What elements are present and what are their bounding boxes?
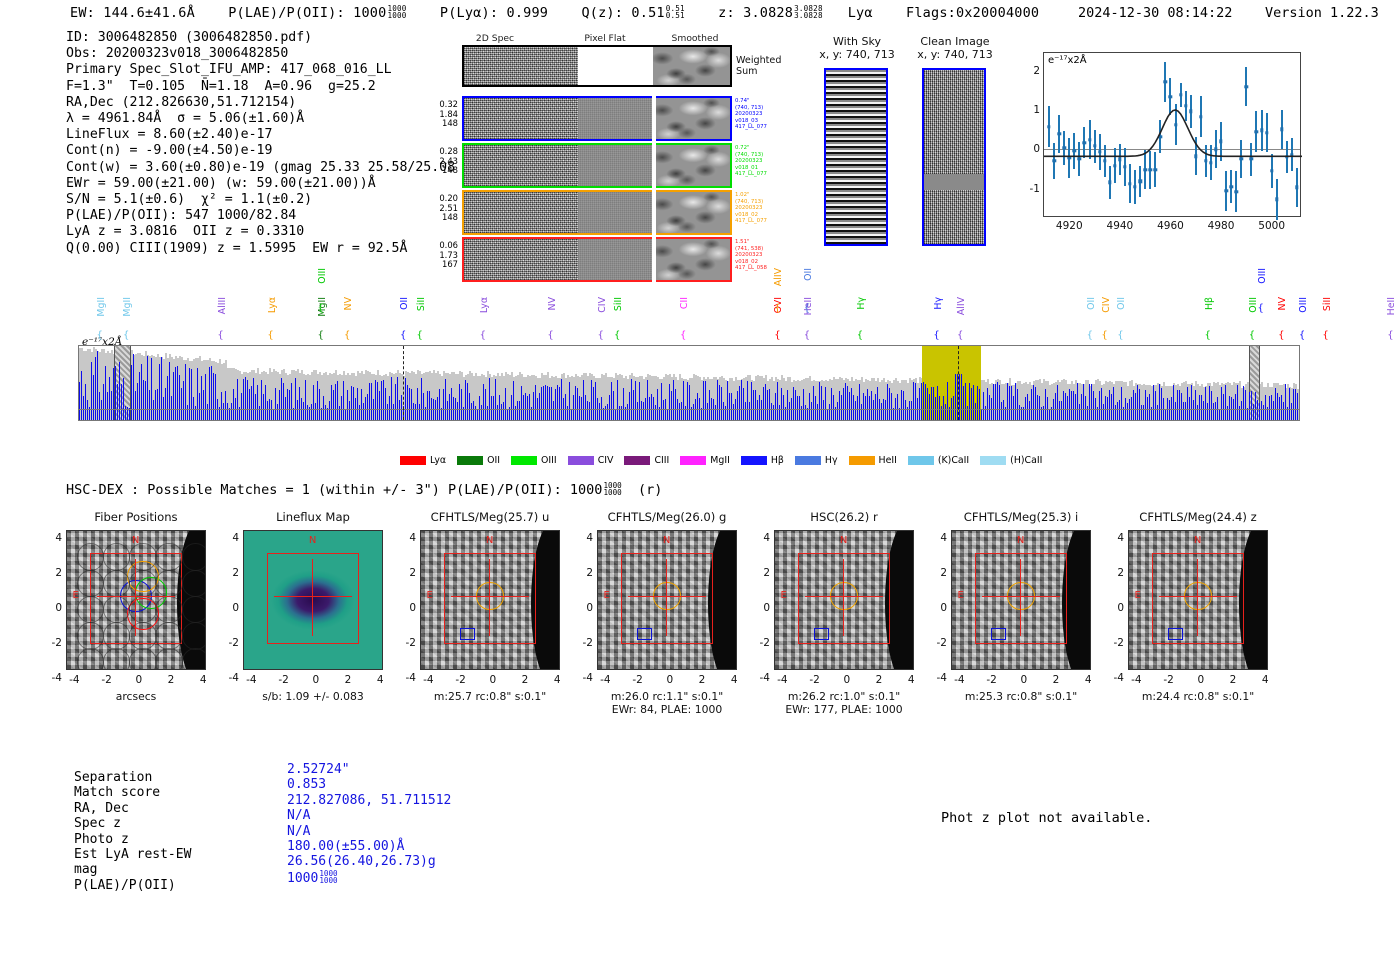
east-label: E <box>427 590 433 601</box>
legend-label: MgII <box>710 455 730 466</box>
thumbnail-title-1: Clean Imagex, y: 740, 713 <box>900 35 1010 61</box>
cutout-ytick: -4 <box>760 672 770 684</box>
spectrum-line-label: CIV <box>1101 297 1112 313</box>
cutout-caption: m:26.2 rc:1.0" s:0.1"EWr: 177, PLAE: 100… <box>754 690 934 716</box>
match-value: 100010001000 <box>287 870 338 886</box>
spec2d-col-header-1: Pixel Flat <box>560 33 650 44</box>
cutout-ytick: -2 <box>52 637 62 649</box>
info-line-1: Obs: 20200323v018_3006482850 <box>66 46 479 62</box>
cutout-image: NE <box>597 530 737 670</box>
fiber-grid-circle <box>155 543 183 571</box>
spectrum-line-label: OII <box>1086 297 1097 310</box>
info-line-13: Q(0.00) CIII(1909) z = 1.5995 EW r = 92.… <box>66 241 479 257</box>
fiber-grid-circle <box>129 622 157 650</box>
line-profile-plot: e⁻¹⁷x2Å 210-149204940496049805000 <box>1043 52 1301 217</box>
cutout-ytick: 4 <box>232 532 239 544</box>
spectrum-line-brace: { <box>318 330 324 341</box>
east-label: E <box>73 590 79 601</box>
spectrum-line-label: CIV <box>597 297 608 313</box>
cutout-panel-3[interactable]: CFHTLS/Meg(26.0) gNE420-2-4-4-2024m:26.0… <box>597 530 737 670</box>
cutout-xtick: 2 <box>699 674 706 686</box>
legend-swatch <box>795 456 821 465</box>
legend-label: Lyα <box>430 455 446 466</box>
cutout-ytick: 2 <box>586 567 593 579</box>
cutout-xtick: 0 <box>843 674 850 686</box>
info-line-4: RA,Dec (212.826630,51.712154) <box>66 95 479 111</box>
legend-label: OIII <box>541 455 557 466</box>
legend-swatch <box>680 456 706 465</box>
hsc-dex-text: HSC-DEX : Possible Matches = 1 (within +… <box>66 482 602 498</box>
cutout-ytick: 4 <box>586 532 593 544</box>
cutout-image: NE <box>420 530 560 670</box>
info-line-11: P(LAE)/P(OII): 547 1000/82.84 <box>66 208 479 224</box>
spectrum-line-label: MgII <box>122 297 133 317</box>
line-profile-xtick: 4960 <box>1157 220 1184 232</box>
spectrum-line-brace: { <box>480 330 486 341</box>
cutout-xtick: -4 <box>777 674 787 686</box>
cutout-ytick: 0 <box>409 602 416 614</box>
full-spectrum-plot: 2035003600370038003900400041004200430044… <box>78 345 1300 421</box>
info-line-5: λ = 4961.84Å σ = 5.06(±1.60)Å <box>66 111 479 127</box>
cutout-xtick: -2 <box>632 674 642 686</box>
match-value: 2.52724" <box>287 762 350 777</box>
spectrum-line-label: HeII <box>1386 297 1397 315</box>
cutout-ytick: 4 <box>940 532 947 544</box>
match-plae-frac: 10001000 <box>319 870 337 884</box>
fiber-grid-circle <box>155 570 183 598</box>
match-key: Photo z <box>74 832 129 847</box>
match-key: RA, Dec <box>74 801 129 816</box>
spectrum-line-brace: { <box>1117 330 1123 341</box>
match-value: 0.853 <box>287 777 326 792</box>
info-line-9: EWr = 59.00(±21.00) (w: 59.00(±21.00))Å <box>66 176 479 192</box>
cutout-panel-5[interactable]: CFHTLS/Meg(25.3) iNE420-2-4-4-2024m:25.3… <box>951 530 1091 670</box>
spectrum-line-marker <box>958 346 959 420</box>
hsc-dex-suffix: (r) <box>638 482 662 498</box>
cutout-ytick: 2 <box>940 567 947 579</box>
cutout-xtick: -4 <box>600 674 610 686</box>
cutout-caption-line1: m:26.2 rc:1.0" s:0.1" <box>754 690 934 703</box>
cutout-xtick: -2 <box>809 674 819 686</box>
hsc-dex-frac: 10001000 <box>603 482 621 496</box>
photoz-note: Phot z plot not available. <box>941 810 1152 826</box>
spectrum-line-brace: { <box>857 330 863 341</box>
spec2d-row-meta: 0.74"(740, 713)20200323v018_03417_LL_077 <box>735 98 767 131</box>
spectrum-line-brace: { <box>400 330 406 341</box>
spectrum-line-label: AlIV <box>956 297 967 315</box>
cutout-xtick: 4 <box>1262 674 1269 686</box>
fiber-grid-circle <box>182 543 206 571</box>
line-profile-xtick: 5000 <box>1258 220 1285 232</box>
spectrum-line-label: AlIII <box>217 297 228 314</box>
with-sky-image <box>824 68 888 246</box>
info-line-8: Cont(w) = 3.60(±0.80)e-19 (gmag 25.33 25… <box>66 160 479 176</box>
spectrum-line-brace: { <box>680 330 686 341</box>
info-line-0: ID: 3006482850 (3006482850.pdf) <box>66 30 479 46</box>
east-label: E <box>781 590 787 601</box>
cutout-ytick: -2 <box>583 637 593 649</box>
thumbnail-title-0: With Skyx, y: 740, 713 <box>802 35 912 61</box>
cutout-xtick: -4 <box>246 674 256 686</box>
crosshair-vertical <box>843 559 844 636</box>
cutout-ytick: 4 <box>409 532 416 544</box>
cutout-xtick: -2 <box>278 674 288 686</box>
spectrum-line-brace: { <box>123 330 129 341</box>
cutout-ytick: 2 <box>232 567 239 579</box>
north-label: N <box>840 535 847 546</box>
spectrum-line-brace: { <box>1101 330 1107 341</box>
cutout-caption-line1: s/b: 1.09 +/- 0.083 <box>223 690 403 703</box>
fiber-grid-circle <box>182 648 206 670</box>
header-redshift: z: 3.0828 <box>718 5 793 21</box>
spectrum-line-label: SiII <box>613 297 624 311</box>
cutout-ytick: 4 <box>1117 532 1124 544</box>
crosshair-vertical <box>489 559 490 636</box>
cutout-caption-line1: m:25.3 rc:0.8" s:0.1" <box>931 690 1111 703</box>
spectrum-line-brace: { <box>96 330 102 341</box>
cutout-ytick: 0 <box>763 602 770 614</box>
cutout-ytick: 2 <box>763 567 770 579</box>
spectrum-line-brace: { <box>417 330 423 341</box>
header-qz-frac: 0.510.51 <box>666 5 685 19</box>
legend-swatch <box>849 456 875 465</box>
cutout-xtick: 0 <box>489 674 496 686</box>
cutout-xtick: -2 <box>455 674 465 686</box>
spectrum-line-label: OIII <box>1298 297 1309 313</box>
spec2d-weighted-sum-strip <box>462 45 732 87</box>
cutout-ytick: 4 <box>55 532 62 544</box>
header-version: Version 1.22.3 <box>1265 5 1379 21</box>
legend-item: Hβ <box>741 455 784 466</box>
fiber-grid-circle <box>129 648 157 670</box>
cutout-caption: s/b: 1.09 +/- 0.083 <box>223 690 403 703</box>
catalog-match-box <box>814 628 829 640</box>
hsc-dex-header: HSC-DEX : Possible Matches = 1 (within +… <box>66 482 662 498</box>
legend-label: (H)CaII <box>1010 455 1042 466</box>
crosshair-vertical <box>135 559 136 636</box>
match-key: Match score <box>74 785 160 800</box>
crosshair-vertical <box>1197 559 1198 636</box>
fiber-grid-circle <box>77 543 105 571</box>
spectrum-line-brace: { <box>547 330 553 341</box>
spectrum-line-label: NV <box>547 297 558 310</box>
legend-swatch <box>511 456 537 465</box>
legend-item: OII <box>457 455 500 466</box>
crosshair-vertical <box>1020 559 1021 636</box>
catalog-match-box <box>991 628 1006 640</box>
spectrum-line-label: Hβ <box>1204 297 1215 310</box>
spectrum-line-label: AlIV <box>773 268 784 286</box>
match-key: Separation <box>74 770 152 785</box>
legend-item: MgII <box>680 455 730 466</box>
catalog-match-box <box>637 628 652 640</box>
cutout-caption-line2: EWr: 84, PLAE: 1000 <box>577 703 757 716</box>
legend-swatch <box>457 456 483 465</box>
cutout-ytick: -4 <box>229 672 239 684</box>
cutout-caption-line2: EWr: 177, PLAE: 1000 <box>754 703 934 716</box>
legend-item: Hγ <box>795 455 838 466</box>
legend-swatch <box>980 456 1006 465</box>
cutout-xtick: 4 <box>731 674 738 686</box>
spec2d-fiber-row <box>462 190 732 235</box>
header-line-name: Lyα <box>848 5 873 21</box>
cutout-xtick: 4 <box>200 674 207 686</box>
match-value-text: 1000 <box>287 871 318 886</box>
cutout-xtick: 4 <box>554 674 561 686</box>
spectrum-line-brace: { <box>933 330 939 341</box>
cutout-xtick: -2 <box>986 674 996 686</box>
cutout-xtick: 2 <box>522 674 529 686</box>
fiber-grid-circle <box>103 648 131 670</box>
cutout-caption-line1: arcsecs <box>46 690 226 703</box>
match-value: 26.56(26.40,26.73)g <box>287 854 436 869</box>
spec2d-row-meta: 1.51"(741, 538)20200323v018_02417_LL_058 <box>735 239 767 272</box>
legend-label: Hβ <box>771 455 784 466</box>
cutout-ytick: 0 <box>1117 602 1124 614</box>
fiber-grid-circle <box>129 596 157 624</box>
cutout-xtick: 0 <box>666 674 673 686</box>
cutout-title: Lineflux Map <box>243 510 383 524</box>
cutout-ytick: 4 <box>763 532 770 544</box>
cutout-ytick: 0 <box>55 602 62 614</box>
legend-item: (H)CaII <box>980 455 1042 466</box>
fiber-grid-circle <box>182 622 206 650</box>
cutout-panel-1[interactable]: Lineflux MapN420-2-4-4-2024s/b: 1.09 +/-… <box>243 530 383 670</box>
cutout-panel-0[interactable]: Fiber PositionsNE420-2-4-4-2024arcsecs <box>66 530 206 670</box>
cutout-caption-line1: m:24.4 rc:0.8" s:0.1" <box>1108 690 1288 703</box>
fiber-grid-circle <box>77 648 105 670</box>
spectrum-line-label: Hγ <box>933 297 944 310</box>
spectrum-line-label: SiII <box>1322 297 1333 311</box>
cutout-xtick: 2 <box>168 674 175 686</box>
cutout-title: CFHTLS/Meg(25.7) u <box>420 510 560 524</box>
header-z-frac: 3.08283.0828 <box>794 5 823 19</box>
cutout-caption: m:25.3 rc:0.8" s:0.1" <box>931 690 1111 703</box>
cutout-panel-2[interactable]: CFHTLS/Meg(25.7) uNE420-2-4-4-2024m:25.7… <box>420 530 560 670</box>
header-plya: P(Lyα): 0.999 <box>440 5 548 21</box>
spec2d-col-header-0: 2D Spec <box>450 33 540 44</box>
spectrum-line-label: Hγ <box>856 297 867 310</box>
spec2d-fiber-row <box>462 96 732 141</box>
line-profile-ytick: 2 <box>1033 65 1040 77</box>
cutout-xtick: 0 <box>312 674 319 686</box>
legend-label: Hγ <box>825 455 838 466</box>
spec2d-row-meta: 1.02"(740, 713)20200323v018_02417_LL_077 <box>735 192 767 225</box>
legend-swatch <box>568 456 594 465</box>
spec2d-row-stats: 0.282.43148 <box>430 147 458 176</box>
east-label: E <box>604 590 610 601</box>
spectrum-line-brace: { <box>804 330 810 341</box>
spectrum-line-label: SiII <box>416 297 427 311</box>
match-value: N/A <box>287 808 310 823</box>
spectrum-line-label: Lyα <box>479 297 490 313</box>
spectrum-line-brace: { <box>774 303 780 314</box>
spectrum-legend: LyαOIIOIIICIVCIIIMgIIHβHγHeII(K)CaII(H)C… <box>400 455 1042 466</box>
cutout-title: CFHTLS/Meg(24.4) z <box>1128 510 1268 524</box>
spectrum-line-label: CII <box>679 297 690 309</box>
header-plae-frac: 10001000 <box>387 5 406 19</box>
north-label: N <box>1194 535 1201 546</box>
cutout-ytick: 0 <box>586 602 593 614</box>
spectrum-line-label: NV <box>343 297 354 310</box>
cutout-xtick: 4 <box>1085 674 1092 686</box>
spectrum-flux-line <box>1297 393 1298 420</box>
legend-swatch <box>741 456 767 465</box>
catalog-match-box <box>1168 628 1183 640</box>
info-line-3: F=1.3" T=0.105 N̄=1.18 A=0.96 g=25.2 <box>66 79 479 95</box>
spectrum-line-brace: { <box>957 330 963 341</box>
cutout-ytick: 2 <box>409 567 416 579</box>
cutout-ytick: 0 <box>940 602 947 614</box>
cutout-ytick: -2 <box>406 637 416 649</box>
cutout-xtick: 0 <box>1197 674 1204 686</box>
cutout-title: HSC(26.2) r <box>774 510 914 524</box>
cutout-title: CFHTLS/Meg(26.0) g <box>597 510 737 524</box>
spec2d-fiber-row <box>462 143 732 188</box>
spectrum-zero-line <box>79 409 1299 410</box>
cutout-caption-line1: m:25.7 rc:0.8" s:0.1" <box>400 690 580 703</box>
spectrum-line-brace: { <box>267 330 273 341</box>
cutout-ytick: 2 <box>55 567 62 579</box>
crosshair-vertical <box>666 559 667 636</box>
cutout-xtick: 2 <box>1230 674 1237 686</box>
spec2d-col-header-2: Smoothed <box>650 33 740 44</box>
north-label: N <box>1017 535 1024 546</box>
north-label: N <box>486 535 493 546</box>
cutout-xtick: 2 <box>1053 674 1060 686</box>
cutout-image: NE <box>66 530 206 670</box>
info-line-12: LyA z = 3.0816 OII z = 0.3310 <box>66 224 479 240</box>
header-right: 2024-12-30 08:14:22 Version 1.22.3 <box>1078 5 1379 21</box>
cutout-ytick: -2 <box>229 637 239 649</box>
cutout-caption: m:24.4 rc:0.8" s:0.1" <box>1108 690 1288 703</box>
cutout-panel-6[interactable]: CFHTLS/Meg(24.4) zNE420-2-4-4-2024m:24.4… <box>1128 530 1268 670</box>
line-profile-ytick: 0 <box>1033 143 1040 155</box>
cutout-xtick: 2 <box>345 674 352 686</box>
legend-label: CIV <box>598 455 614 466</box>
cutout-ytick: 0 <box>232 602 239 614</box>
spectrum-line-brace: { <box>1387 330 1393 341</box>
spec2d-row-stats: 0.061.73167 <box>430 241 458 270</box>
cutout-ytick: -2 <box>760 637 770 649</box>
fiber-grid-circle <box>155 622 183 650</box>
cutout-title: CFHTLS/Meg(25.3) i <box>951 510 1091 524</box>
cutout-caption-line1: m:26.0 rc:1.1" s:0.1" <box>577 690 757 703</box>
fiber-grid-circle <box>182 570 206 598</box>
cutout-xtick: -2 <box>101 674 111 686</box>
spec2d-row-stats: 0.321.84148 <box>430 100 458 129</box>
spectrum-line-brace: { <box>1205 330 1211 341</box>
legend-label: OII <box>487 455 500 466</box>
cutout-ytick: -4 <box>937 672 947 684</box>
legend-swatch <box>400 456 426 465</box>
line-profile-xtick: 4920 <box>1056 220 1083 232</box>
fiber-grid-circle <box>155 596 183 624</box>
cutout-xtick: 2 <box>876 674 883 686</box>
cutout-caption: m:25.7 rc:0.8" s:0.1" <box>400 690 580 703</box>
line-profile-xtick: 4940 <box>1107 220 1134 232</box>
legend-item: (K)CaII <box>908 455 969 466</box>
thumb-title: Clean Image <box>920 35 989 48</box>
cutout-ytick: -4 <box>1114 672 1124 684</box>
thumb-subtitle: x, y: 740, 713 <box>819 48 894 61</box>
line-profile-xtick: 4980 <box>1208 220 1235 232</box>
legend-swatch <box>624 456 650 465</box>
cutout-xtick: -4 <box>1131 674 1141 686</box>
cutout-caption: arcsecs <box>46 690 226 703</box>
header-ew: EW: 144.6±41.6Å <box>70 5 195 21</box>
fiber-grid-circle <box>129 543 157 571</box>
spec2d-fiber-row <box>462 237 732 282</box>
cutout-ytick: -4 <box>406 672 416 684</box>
cutout-xtick: 0 <box>135 674 142 686</box>
legend-swatch <box>908 456 934 465</box>
spectrum-line-brace: { <box>217 330 223 341</box>
header-flags: Flags:0x20004000 <box>906 5 1039 21</box>
match-key: mag <box>74 862 97 877</box>
spectrum-line-brace: { <box>774 330 780 341</box>
info-line-7: Cont(n) = -9.00(±4.50)e-19 <box>66 143 479 159</box>
cutout-panel-4[interactable]: HSC(26.2) rNE420-2-4-4-2024m:26.2 rc:1.0… <box>774 530 914 670</box>
north-label: N <box>132 535 139 546</box>
east-label: E <box>958 590 964 601</box>
clean-image <box>922 68 986 246</box>
cutout-ytick: -2 <box>937 637 947 649</box>
spectrum-line-label: OIII <box>1257 268 1268 284</box>
match-value: 212.827086, 51.711512 <box>287 793 451 808</box>
spectrum-line-brace: { <box>1299 330 1305 341</box>
line-profile-ytick: -1 <box>1030 183 1040 195</box>
spectrum-line-brace: { <box>344 330 350 341</box>
crosshair-vertical <box>312 559 313 636</box>
info-line-10: S/N = 5.1(±0.6) χ² = 1.1(±0.2) <box>66 192 479 208</box>
line-profile-ytick: 1 <box>1033 104 1040 116</box>
cutout-image: N <box>243 530 383 670</box>
legend-label: (K)CaII <box>938 455 969 466</box>
spectrum-line-label: OII <box>1116 297 1127 310</box>
cutout-image: NE <box>1128 530 1268 670</box>
info-line-2: Primary Spec_Slot_IFU_AMP: 417_068_016_L… <box>66 62 479 78</box>
spectrum-line-brace: { <box>1249 330 1255 341</box>
cutout-image: NE <box>774 530 914 670</box>
cutout-caption: m:26.0 rc:1.1" s:0.1"EWr: 84, PLAE: 1000 <box>577 690 757 716</box>
cutout-ytick: 2 <box>1117 567 1124 579</box>
spectrum-line-brace: { <box>1258 303 1264 314</box>
spectrum-line-marker <box>403 346 404 420</box>
fiber-grid-circle <box>155 648 183 670</box>
spectrum-line-label: NV <box>1277 297 1288 310</box>
spec2d-row-meta: 0.72"(740, 713)20200323v018_01417_LL_077 <box>735 145 767 178</box>
match-value: 180.00(±55.00)Å <box>287 839 404 854</box>
legend-item: Lyα <box>400 455 446 466</box>
info-line-6: LineFlux = 8.60(±2.40)e-17 <box>66 127 479 143</box>
legend-label: HeII <box>879 455 897 466</box>
match-key: Est LyA rest-EW <box>74 847 191 862</box>
legend-item: HeII <box>849 455 897 466</box>
legend-item: CIV <box>568 455 614 466</box>
cutout-ytick: -4 <box>52 672 62 684</box>
spectrum-line-label: MgII <box>96 297 107 317</box>
header-datetime: 2024-12-30 08:14:22 <box>1078 5 1232 21</box>
spectrum-line-brace: { <box>597 330 603 341</box>
cutout-image: NE <box>951 530 1091 670</box>
match-key: Spec z <box>74 816 121 831</box>
spectrum-line-label: Lyα <box>267 297 278 313</box>
legend-label: CIII <box>654 455 669 466</box>
east-label: E <box>1135 590 1141 601</box>
legend-item: OIII <box>511 455 557 466</box>
north-label: N <box>309 535 316 546</box>
